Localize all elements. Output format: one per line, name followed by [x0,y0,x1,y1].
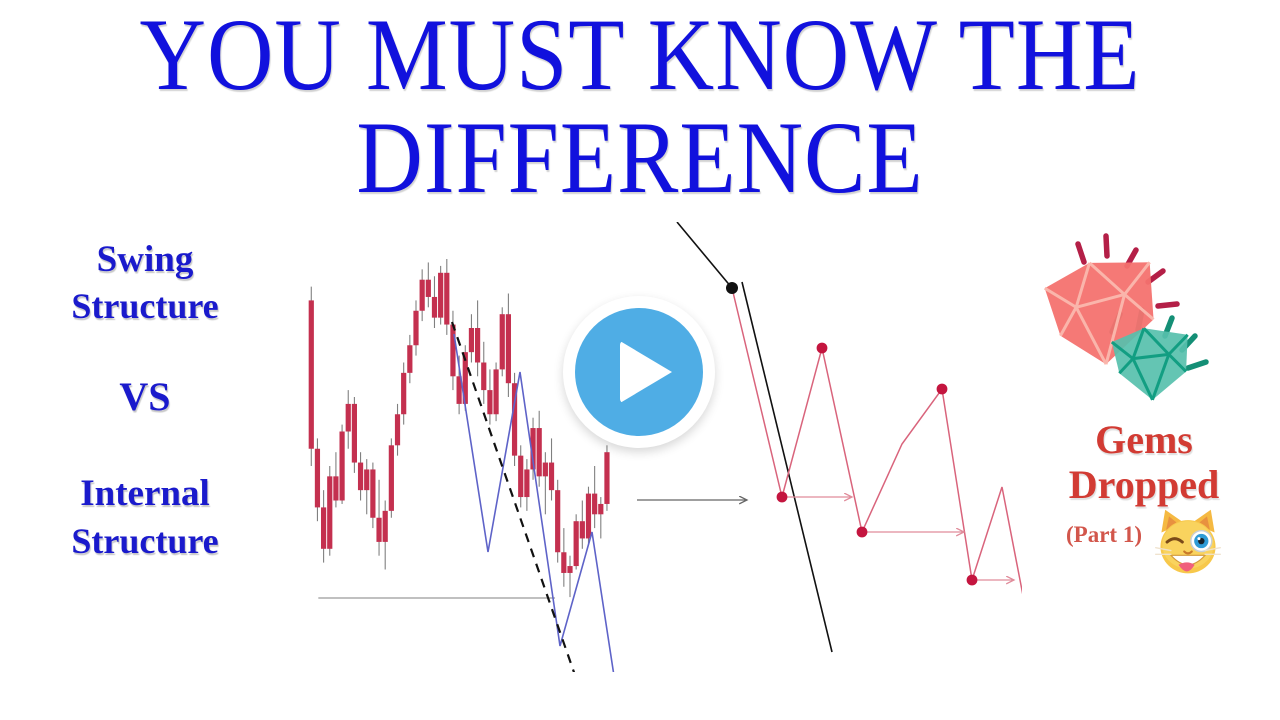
part-label: (Part 1) [1066,522,1142,548]
candle-body [358,463,363,491]
title-line-2: DIFFERENCE [0,109,1280,207]
candle-body [352,404,357,463]
candle-body [598,504,603,514]
candle-body [586,494,591,539]
gems-panel: Gems Dropped (Part 1) [1020,214,1268,574]
swing-structure-line-1: Swing [14,236,276,283]
candle-body [537,428,542,476]
internal-structure-schematic [637,222,1022,652]
candle-body [555,490,560,552]
candle-body [481,363,486,391]
vs-label: VS [14,373,276,420]
play-triangle-icon [620,341,672,403]
gems-dropped-text: Gems Dropped [1020,418,1268,508]
candle-body [567,566,572,573]
candle-body [346,404,351,432]
candle-body [450,325,455,377]
swing-low-dot [777,492,788,503]
candle-body [580,521,585,538]
candle-body [475,328,480,363]
candle-body [413,311,418,346]
price-chart [292,222,1022,672]
swing-high-dot [937,384,948,395]
candle-body [426,280,431,297]
candle-body [574,521,579,566]
schematic-zigzag [732,288,1022,642]
candle-body [383,511,388,542]
gems-line-1: Gems [1095,417,1193,462]
play-button-disc [575,308,703,436]
swing-structure-label: Swing Structure [14,236,276,329]
candle-body [432,297,437,318]
candle-body [333,476,338,500]
candle-body [487,390,492,414]
internal-structure-line-1: Internal [14,470,276,517]
candle-body [389,445,394,511]
candle-body [438,273,443,318]
swing-low-dot [967,575,978,586]
candle-body [604,452,609,504]
play-button[interactable] [563,296,715,448]
candle-body [592,494,597,515]
page-title: YOU MUST KNOW THE DIFFERENCE [0,6,1280,197]
swing-high-dot [817,343,828,354]
candle-body [524,469,529,497]
internal-structure-label: Internal Structure [14,470,276,563]
schematic-swing-dots [726,282,1022,647]
title-line-1: YOU MUST KNOW THE [0,6,1280,104]
schematic-arrows [637,497,1022,642]
internal-structure-line-2: Structure [14,518,276,564]
candle-body [315,449,320,508]
gem-stone-icon [1020,214,1268,414]
candle-body [321,507,326,548]
candle-body [376,518,381,542]
winking-cat-face-icon [1150,504,1226,580]
candle-body [543,463,548,477]
thumbnail-canvas: YOU MUST KNOW THE DIFFERENCE Swing Struc… [0,0,1280,720]
part-row: (Part 1) [1020,510,1268,574]
schematic-trendline [742,282,832,652]
comparison-labels: Swing Structure VS Internal Structure [14,236,276,564]
candle-body [327,476,332,548]
candle-body [370,469,375,517]
candle-body [506,314,511,383]
candlestick-series [309,259,610,597]
candle-body [561,552,566,573]
chart-svg [292,222,1022,672]
schematic-trendline [677,222,732,288]
candle-body [395,414,400,445]
candle-body [407,345,412,373]
candle-body [309,300,314,448]
candle-body [493,369,498,414]
swing-high-dot [726,282,738,294]
candle-body [549,463,554,491]
candle-body [518,456,523,497]
candle-body [469,328,474,352]
candle-body [500,314,505,369]
candle-body [364,469,369,490]
candle-body [444,273,449,325]
schematic-trendlines [677,222,832,652]
candle-body [420,280,425,311]
candle-body [339,432,344,501]
swing-low-dot [857,527,868,538]
swing-structure-line-2: Structure [14,283,276,329]
candle-body [401,373,406,414]
gems-line-2: Dropped [1020,463,1268,508]
